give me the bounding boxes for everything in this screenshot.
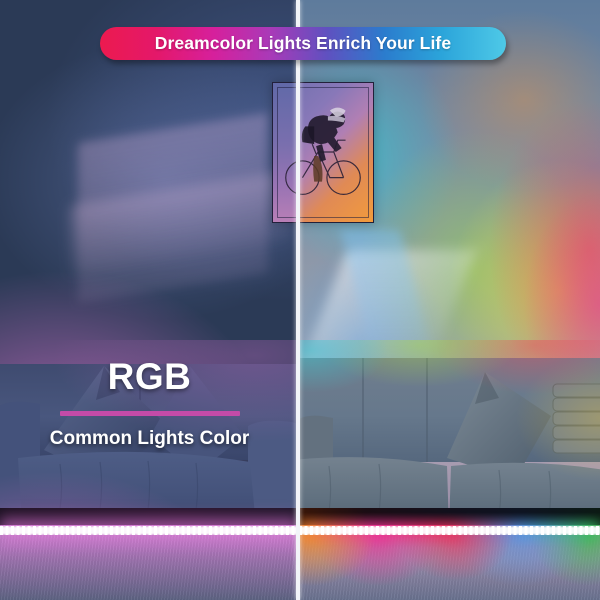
rgb-title: RGB bbox=[0, 358, 299, 395]
wall-art-bicycle-figure bbox=[273, 83, 373, 222]
led-light-strip-left bbox=[0, 524, 299, 536]
left-panel-rgb: RGB Common Lights Color bbox=[0, 0, 299, 600]
headline-banner-text: Dreamcolor Lights Enrich Your Life bbox=[155, 33, 451, 54]
comparison-image: RGB Common Lights Color bbox=[0, 0, 600, 600]
led-light-strip-right bbox=[299, 524, 600, 536]
led-dots bbox=[0, 526, 299, 535]
comparison-divider bbox=[296, 0, 300, 600]
wall-art-frame bbox=[272, 82, 374, 223]
left-caption: Common Lights Color bbox=[0, 428, 299, 450]
led-dots bbox=[299, 526, 600, 535]
left-divider-rule bbox=[60, 411, 240, 416]
headline-banner: Dreamcolor Lights Enrich Your Life bbox=[100, 27, 506, 60]
left-label-group: RGB Common Lights Color bbox=[0, 358, 299, 450]
